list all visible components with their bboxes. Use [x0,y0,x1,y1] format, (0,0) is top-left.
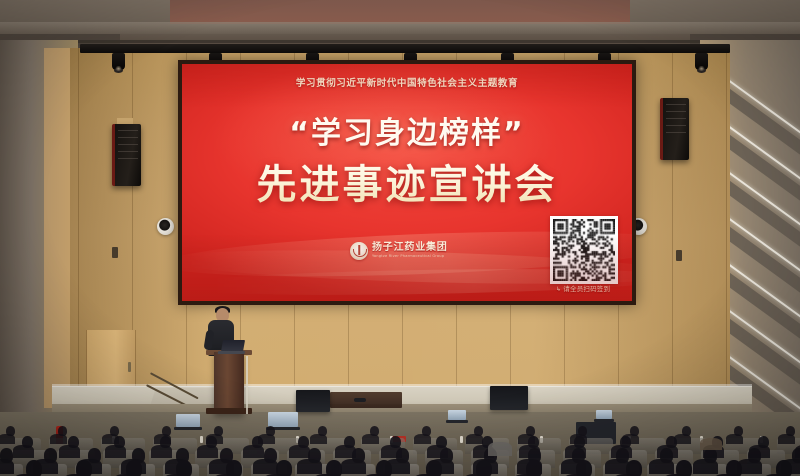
audience-head [660,448,673,463]
audience-head [426,460,442,476]
led-screen-frame: 学习贯彻习近平新时代中国特色社会主义主题教育 “学习身边榜样” 先进事迹宣讲会 … [178,60,636,305]
audience-laptop [448,410,466,420]
audience-head [22,436,33,448]
laptop-base [174,427,202,430]
audience-head [704,448,717,463]
audience-head [630,426,639,436]
line-array-speaker-right [660,98,689,160]
audience-head [682,426,691,436]
audience-head [616,448,629,463]
wooden-lectern [214,352,244,414]
audience-head [390,436,401,448]
audience-head [58,426,67,436]
audience-head [214,426,223,436]
lighting-truss [80,44,730,53]
power-cable [246,356,248,414]
audience-head [676,460,692,476]
audience-head [318,426,327,436]
audience-head [476,460,492,476]
audience-head [68,436,79,448]
audience-head [252,436,263,448]
audience-head [526,426,535,436]
audience-head [162,426,171,436]
wall-fixture-right [676,250,682,261]
audience-head [436,436,447,448]
stage-floor-monitor-right [490,386,528,410]
audience-head [276,460,292,476]
laptop-base [446,420,468,423]
presenter-laptop [221,340,245,352]
ceiling-round-speaker-left [157,218,174,235]
audience-head [792,448,800,463]
audience-head [352,448,365,463]
audience-head [376,460,392,476]
audience-head [298,436,309,448]
wall-fixture-left [112,247,118,258]
audience-head [206,436,217,448]
auditorium-scene: 学习贯彻习近平新时代中国特色社会主义主题教育 “学习身边榜样” 先进事迹宣讲会 … [0,0,800,476]
audience-head [396,448,409,463]
audience-head [666,436,677,448]
audience-laptop [596,410,612,419]
audience-head [422,426,431,436]
audience-head [440,448,453,463]
stage-edge-highlight [52,384,752,387]
audience-shoulders-light [488,442,512,456]
audience-head [326,460,342,476]
audience-head [88,448,101,463]
audience-shoulders-light [700,438,722,450]
audience-head [620,436,631,448]
audience-head [578,426,587,436]
audience-head [576,460,592,476]
audience-head [574,436,585,448]
audience-laptop [176,414,200,427]
audience-head [126,460,142,476]
water-bottle [460,436,463,443]
audience-head [110,426,119,436]
audience-head [76,460,92,476]
audience-head [0,448,13,463]
audience-head [226,460,242,476]
spotlight-glow [115,66,122,71]
audience-area [0,408,800,476]
audience-head [726,460,742,476]
audience-head [6,426,15,436]
audience-head [748,448,761,463]
door-handle[interactable] [128,362,131,372]
audience-head [26,460,42,476]
audience-head [308,448,321,463]
audience-head [626,460,642,476]
ceiling-red-panel [170,0,630,24]
water-bottle [200,436,203,443]
ceiling-trim-line [0,40,800,43]
led-screen: 学习贯彻习近平新时代中国特色社会主义主题教育 “学习身边榜样” 先进事迹宣讲会 … [182,64,632,301]
audience-head [776,460,792,476]
ceiling-band [0,22,800,34]
audience-head [44,448,57,463]
microphone-base [354,398,366,402]
audience-head [266,426,275,436]
audience-head [526,460,542,476]
audience-head [176,460,192,476]
audience-head [734,426,743,436]
stage-side-desk [330,392,402,408]
audience-head [758,436,769,448]
audience-head [474,426,483,436]
audience-laptop [268,412,298,427]
screen-vignette [182,64,632,301]
audience-head [114,436,125,448]
audience-head [160,436,171,448]
line-array-speaker-left [112,124,141,186]
audience-head [370,426,379,436]
audience-head [786,426,795,436]
audience-head [528,436,539,448]
spotlight-glow [698,66,705,71]
audience-head [344,436,355,448]
audience-head [264,448,277,463]
